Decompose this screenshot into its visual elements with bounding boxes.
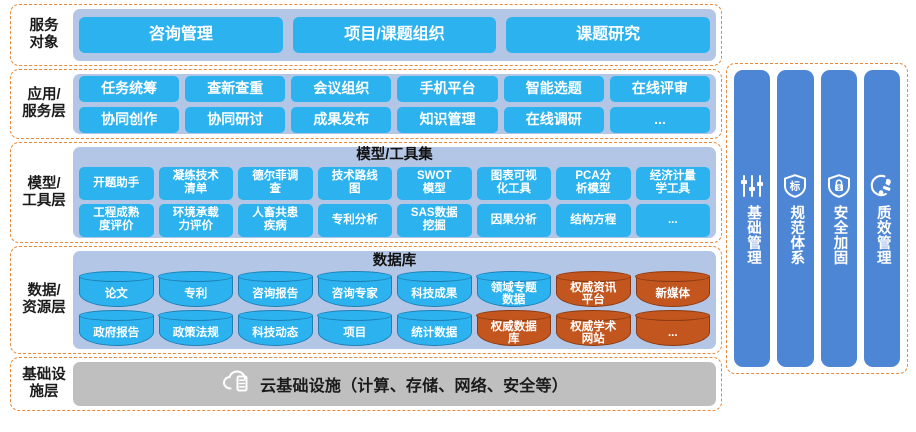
service-object-item[interactable]: 项目/课题组织 [293, 17, 497, 53]
model-tool-grid: 开题助手 凝练技术 清单 德尔菲调 查 技术路线 图 SWOT 模型 图表可视 … [79, 167, 710, 237]
database-cylinder[interactable]: 咨询专家 [318, 277, 393, 307]
database-label: 权威数据 库 [491, 321, 537, 346]
database-cylinder[interactable]: 咨询报告 [238, 277, 313, 307]
layer-data-resource: 数据/ 资源层 数据库 论文 专利 咨询报告 咨询专家 科技成果 领域专题 数据… [10, 246, 722, 354]
svg-text:标: 标 [789, 179, 801, 192]
application-item[interactable]: 智能选题 [504, 76, 604, 102]
database-label: 咨询报告 [252, 288, 298, 301]
governance-column-foundation[interactable]: 基础管理 [734, 70, 770, 367]
model-tool-item[interactable]: 德尔菲调 查 [238, 167, 313, 200]
model-tool-item[interactable]: 工程成熟 度评价 [79, 204, 154, 237]
model-tool-item[interactable]: 图表可视 化工具 [477, 167, 552, 200]
governance-column-security[interactable]: $ 安全加固 [821, 70, 857, 367]
governance-column-label: 规范体系 [788, 205, 804, 265]
model-tool-item[interactable]: 环境承载 力评价 [159, 204, 234, 237]
database-heading: 数据库 [79, 254, 710, 269]
database-cylinder[interactable]: 权威资讯 平台 [556, 277, 631, 307]
layer-title-service-object: 服务 对象 [15, 9, 73, 61]
infrastructure-bar: 云基础设施（计算、存储、网络、安全等） [79, 367, 710, 401]
application-grid: 任务统筹 查新查重 会议组织 手机平台 智能选题 在线评审 协同创作 协同研讨 … [79, 76, 710, 133]
database-cylinder[interactable]: 权威学术 网站 [556, 316, 631, 346]
application-item[interactable]: 成果发布 [291, 107, 391, 133]
model-tool-item[interactable]: 结构方程 [556, 204, 631, 237]
database-label: 专利 [184, 288, 207, 301]
database-grid: 论文 专利 咨询报告 咨询专家 科技成果 领域专题 数据 权威资讯 平台 新媒体… [79, 272, 710, 346]
layer-application-service: 应用/ 服务层 任务统筹 查新查重 会议组织 手机平台 智能选题 在线评审 协同… [10, 69, 722, 139]
database-cylinder[interactable]: 政府报告 [79, 316, 154, 346]
database-cylinder[interactable]: 领域专题 数据 [477, 277, 552, 307]
database-cylinder[interactable]: 项目 [318, 316, 393, 346]
model-tool-item[interactable]: 经济计量 学工具 [636, 167, 711, 200]
database-label: 权威资讯 平台 [570, 282, 616, 307]
layer-body-service-object: 咨询管理 项目/课题组织 课题研究 [73, 9, 716, 61]
quality-gear-icon [869, 173, 895, 199]
model-toolset-heading: 模型/工具集 [79, 148, 710, 163]
layer-body-data-resource: 数据库 论文 专利 咨询报告 咨询专家 科技成果 领域专题 数据 权威资讯 平台… [73, 251, 716, 349]
layer-title-infrastructure: 基础设 施层 [15, 362, 73, 406]
database-label: 政策法规 [173, 327, 219, 340]
database-cylinder-more[interactable]: ... [636, 316, 711, 346]
database-cylinder[interactable]: 论文 [79, 277, 154, 307]
model-tool-item[interactable]: SWOT 模型 [397, 167, 472, 200]
database-cylinder[interactable]: 统计数据 [397, 316, 472, 346]
application-item[interactable]: 协同研讨 [185, 107, 285, 133]
sliders-icon [739, 173, 765, 199]
model-tool-item[interactable]: 开题助手 [79, 167, 154, 200]
model-tool-item[interactable]: 凝练技术 清单 [159, 167, 234, 200]
database-label: ... [668, 327, 678, 340]
model-tool-item[interactable]: 因果分析 [477, 204, 552, 237]
layer-body-application-service: 任务统筹 查新查重 会议组织 手机平台 智能选题 在线评审 协同创作 协同研讨 … [73, 74, 716, 134]
database-cylinder[interactable]: 科技动态 [238, 316, 313, 346]
layer-body-infrastructure: 云基础设施（计算、存储、网络、安全等） [73, 362, 716, 406]
application-item[interactable]: 查新查重 [185, 76, 285, 102]
governance-column-standards[interactable]: 标 规范体系 [777, 70, 813, 367]
model-tool-item[interactable]: 专利分析 [318, 204, 393, 237]
application-item[interactable]: 知识管理 [397, 107, 497, 133]
architecture-diagram: 服务 对象 咨询管理 项目/课题组织 课题研究 应用/ 服务层 任务统筹 查新查… [0, 0, 916, 432]
layer-title-model-tool: 模型/ 工具层 [15, 147, 73, 238]
layer-stack: 服务 对象 咨询管理 项目/课题组织 课题研究 应用/ 服务层 任务统筹 查新查… [10, 4, 722, 428]
database-label: 统计数据 [411, 327, 457, 340]
layer-title-application-service: 应用/ 服务层 [15, 74, 73, 134]
layer-title-line-1: 数据/ [27, 283, 60, 300]
database-label: 新媒体 [656, 288, 691, 301]
application-item[interactable]: 在线调研 [504, 107, 604, 133]
model-tool-item[interactable]: 人畜共患 疾病 [238, 204, 313, 237]
database-label: 领域专题 数据 [491, 282, 537, 307]
shield-lock-icon: $ [826, 173, 852, 199]
layer-infrastructure: 基础设 施层 云基础设施（计算、存储、网络、安全等） [10, 357, 722, 411]
layer-title-line-2: 施层 [30, 384, 59, 401]
application-item[interactable]: 会议组织 [291, 76, 391, 102]
database-label: 科技成果 [411, 288, 457, 301]
layer-title-line-2: 工具层 [22, 193, 66, 210]
application-item-more[interactable]: ... [610, 107, 710, 133]
layer-title-line-2: 对象 [30, 35, 59, 52]
governance-column-label: 基础管理 [744, 205, 760, 265]
model-tool-item-more[interactable]: ... [636, 204, 711, 237]
shield-standard-icon: 标 [782, 173, 808, 199]
service-object-item[interactable]: 课题研究 [506, 17, 710, 53]
database-cylinder[interactable]: 权威数据 库 [477, 316, 552, 346]
layer-service-object: 服务 对象 咨询管理 项目/课题组织 课题研究 [10, 4, 722, 66]
service-object-item[interactable]: 咨询管理 [79, 17, 283, 53]
database-label: 科技动态 [252, 327, 298, 340]
model-tool-item[interactable]: PCA分 析模型 [556, 167, 631, 200]
service-object-row: 咨询管理 项目/课题组织 课题研究 [79, 17, 710, 53]
layer-title-line-1: 服务 [30, 18, 59, 35]
database-label: 咨询专家 [332, 288, 378, 301]
infrastructure-label: 云基础设施（计算、存储、网络、安全等） [260, 372, 568, 396]
database-label: 项目 [343, 327, 366, 340]
database-cylinder[interactable]: 新媒体 [636, 277, 711, 307]
layer-title-line-1: 基础设 [22, 367, 66, 384]
application-item[interactable]: 在线评审 [610, 76, 710, 102]
governance-column-quality[interactable]: 质效管理 [864, 70, 900, 367]
governance-panel: 基础管理 标 规范体系 $ 安全加固 [726, 63, 908, 374]
database-cylinder[interactable]: 专利 [159, 277, 234, 307]
database-label: 论文 [105, 288, 128, 301]
model-tool-item[interactable]: 技术路线 图 [318, 167, 393, 200]
database-cylinder[interactable]: 科技成果 [397, 277, 472, 307]
cloud-server-icon [221, 369, 251, 400]
database-label: 权威学术 网站 [570, 321, 616, 346]
application-item[interactable]: 任务统筹 [79, 76, 179, 102]
database-cylinder[interactable]: 政策法规 [159, 316, 234, 346]
application-item[interactable]: 手机平台 [397, 76, 497, 102]
layer-model-tool: 模型/ 工具层 模型/工具集 开题助手 凝练技术 清单 德尔菲调 查 技术路线 … [10, 142, 722, 243]
model-tool-item[interactable]: SAS数据 挖掘 [397, 204, 472, 237]
layer-title-data-resource: 数据/ 资源层 [15, 251, 73, 349]
governance-column-label: 安全加固 [831, 205, 847, 265]
governance-column-label: 质效管理 [874, 205, 890, 265]
layer-title-line-1: 应用/ [27, 87, 60, 104]
layer-title-line-1: 模型/ [27, 176, 60, 193]
layer-title-line-2: 服务层 [22, 104, 66, 121]
database-label: 政府报告 [93, 327, 139, 340]
layer-body-model-tool: 模型/工具集 开题助手 凝练技术 清单 德尔菲调 查 技术路线 图 SWOT 模… [73, 147, 716, 238]
layer-title-line-2: 资源层 [22, 300, 66, 317]
application-item[interactable]: 协同创作 [79, 107, 179, 133]
